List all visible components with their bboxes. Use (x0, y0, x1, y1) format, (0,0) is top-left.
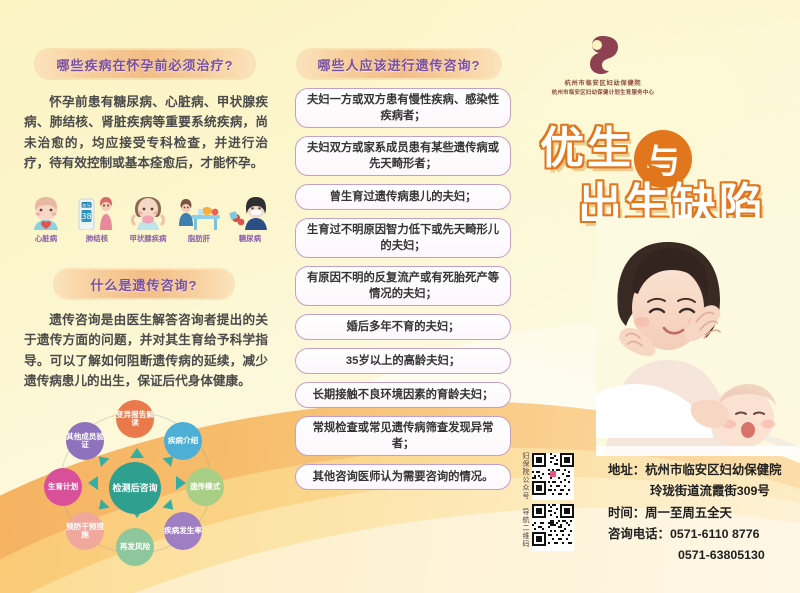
list-item-text: 35岁以上的高龄夫妇； (346, 353, 460, 369)
disease-icon-label: 肺结核 (86, 233, 108, 244)
contact-hours-label: 时间： (608, 506, 645, 520)
list-item: 婚后多年不育的夫妇； (295, 314, 511, 340)
list-item: 35岁以上的高龄夫妇； (295, 348, 511, 374)
qr-code-item[interactable]: 导航二维码 (520, 504, 574, 551)
disease-icon-strip: 心脏病 血压 38 肺结核 (22, 196, 274, 244)
diagram-arrow-left (88, 476, 98, 490)
genetic-counseling-diagram: 变异报告解读 疾病介绍 遗传模式 疾病发生率 再发风险 预防干预措施 生育计划 … (38, 400, 238, 565)
list-item-text: 曾生育过遗传病患儿的夫妇； (330, 189, 477, 205)
list-item-text: 常规检查或常见遗传病筛查发现异常者； (304, 420, 502, 452)
diagram-node-label: 再发风险 (120, 543, 150, 552)
section-body-genetic-counseling: 遗传咨询是由医生解答咨询者提出的关于遗传方面的问题，并对其生育给予科学指导。可以… (24, 310, 268, 392)
list-item: 曾生育过遗传病患儿的夫妇； (295, 184, 511, 210)
list-item-text: 生育过不明原因智力低下或先天畸形儿的夫妇； (304, 222, 502, 254)
disease-icon-cell: 脂肪肝 (175, 196, 223, 244)
contact-block: 地址：杭州市临安区妇幼保健院 玲珑街道流霞街309号 时间：周一至周五全天 咨询… (608, 460, 781, 567)
diagram-node-label: 变异报告解读 (116, 411, 154, 428)
section-heading-diseases: 哪些疾病在怀孕前必须治疗? (36, 50, 254, 78)
list-item-text: 有原因不明的反复流产或有死胎死产等情况的夫妇； (304, 270, 502, 302)
list-item: 常规检查或常见遗传病筛查发现异常者； (295, 416, 511, 456)
poster-title-line1-text: 优生 (540, 124, 634, 173)
list-item: 有原因不明的反复流产或有死胎死产等情况的夫妇； (295, 266, 511, 306)
list-item-text: 夫妇一方或双方患有慢性疾病、感染性疾病者； (304, 92, 502, 124)
mother-and-baby-photo (596, 218, 800, 456)
diagram-node-fertility-plan: 生育计划 (44, 468, 82, 506)
list-item-text: 长期接触不良环境因素的育龄夫妇； (313, 387, 494, 403)
disease-icon-cell: 糖尿病 (226, 196, 274, 244)
counseling-card-list: 夫妇一方或双方患有慢性疾病、感染性疾病者； 夫妇双方或家系成员患有某些遗传病或先… (295, 88, 511, 548)
diagram-arrow-up (130, 448, 144, 458)
diagram-node-other-member-verify: 其他成员验证 (66, 422, 104, 460)
org-name-line2: 杭州市临安区妇幼保健计划生育服务中心 (536, 88, 670, 96)
section-heading-genetic-counseling: 什么是遗传咨询? (55, 270, 233, 298)
diagram-node-label: 预防干预措施 (66, 523, 104, 540)
diagram-arrow-right (176, 476, 186, 490)
list-item: 生育过不明原因智力低下或先天畸形儿的夫妇； (295, 218, 511, 258)
qr-code-label: 妇保院公众号 (520, 452, 530, 500)
list-item: 长期接触不良环境因素的育龄夫妇； (295, 382, 511, 408)
section-heading-who-needs-counseling-text: 哪些人应该进行遗传咨询? (318, 55, 481, 74)
poster-root: 哪些疾病在怀孕前必须治疗? 怀孕前患有糖尿病、心脏病、甲状腺疾病、肺结核、肾脏疾… (0, 0, 800, 593)
disease-icon-cell: 甲状腺疾病 (124, 196, 172, 244)
section-heading-who-needs-counseling: 哪些人应该进行遗传咨询? (298, 50, 500, 78)
disease-icon-cell: 血压 38 肺结核 (73, 196, 121, 244)
contact-phone-line: 咨询电话：0571-6110 8776 (608, 524, 781, 545)
contact-phone-value1: 0571-6110 8776 (670, 527, 760, 541)
diagram-node-label: 遗传模式 (190, 483, 220, 492)
disease-icon-label: 心脏病 (35, 233, 57, 244)
diagram-node-label: 其他成员验证 (66, 433, 104, 450)
diagram-node-center: 检测后咨询 (109, 462, 161, 514)
svg-text:血压: 血压 (82, 202, 91, 209)
disease-icon-label: 甲状腺疾病 (130, 233, 167, 244)
contact-address-line: 地址：杭州市临安区妇幼保健院 (608, 460, 781, 481)
list-item: 夫妇一方或双方患有慢性疾病、感染性疾病者； (295, 88, 511, 128)
contact-address-value1: 杭州市临安区妇幼保健院 (645, 463, 781, 477)
disease-icon-label: 脂肪肝 (188, 233, 210, 244)
contact-phone-value2: 0571-63805130 (608, 545, 781, 566)
list-item-text: 夫妇双方或家系成员患有某些遗传病或先天畸形者； (304, 140, 502, 172)
qr-code-item[interactable]: 妇保院公众号 (520, 452, 574, 500)
diagram-node-label: 生育计划 (48, 483, 78, 492)
list-item-text: 其他咨询医师认为需要咨询的情况。 (313, 469, 494, 485)
diagram-node-label: 疾病介绍 (168, 437, 198, 446)
diabetes-icon (228, 196, 272, 230)
thyroid-disease-icon (126, 196, 170, 230)
qr-code-label: 导航二维码 (520, 508, 530, 548)
contact-hours-value: 周一至周五全天 (645, 506, 732, 520)
list-item-text: 婚后多年不育的夫妇； (347, 319, 460, 335)
diagram-center-label: 检测后咨询 (112, 483, 157, 493)
section-heading-genetic-counseling-text: 什么是遗传咨询? (91, 275, 198, 294)
disease-icon-cell: 心脏病 (22, 196, 70, 244)
org-name-line1: 杭州市临安区妇幼保健院 (540, 78, 666, 87)
section-heading-diseases-text: 哪些疾病在怀孕前必须治疗? (57, 55, 234, 74)
diagram-node-inheritance-mode: 遗传模式 (186, 468, 224, 506)
diagram-node-prevention: 预防干预措施 (66, 512, 104, 550)
diagram-node-label: 疾病发生率 (164, 527, 202, 536)
diagram-node-recurrence-risk: 再发风险 (116, 528, 154, 566)
hospital-logo-icon (578, 32, 626, 76)
contact-address-label: 地址： (608, 463, 645, 477)
tuberculosis-icon: 血压 38 (75, 196, 119, 230)
list-item: 夫妇双方或家系成员患有某些遗传病或先天畸形者； (295, 136, 511, 176)
fatty-liver-icon (177, 196, 221, 230)
svg-text:38: 38 (81, 212, 91, 221)
section-body-diseases: 怀孕前患有糖尿病、心脏病、甲状腺疾病、肺结核、肾脏疾病等重要系统疾病，尚未治愈的… (24, 92, 268, 174)
wechat-official-qr[interactable] (532, 453, 574, 500)
qr-code-group: 妇保院公众号 (520, 452, 574, 551)
diagram-node-variant-report: 变异报告解读 (116, 400, 154, 438)
navigation-qr[interactable] (532, 504, 574, 551)
list-item: 其他咨询医师认为需要咨询的情况。 (295, 464, 511, 490)
contact-address-value2: 玲珑街道流霞街309号 (608, 481, 781, 502)
heart-disease-icon (24, 196, 68, 230)
contact-hours-line: 时间：周一至周五全天 (608, 503, 781, 524)
contact-phone-label: 咨询电话： (608, 527, 670, 541)
diagram-node-disease-incidence: 疾病发生率 (164, 512, 202, 550)
disease-icon-label: 糖尿病 (239, 233, 261, 244)
